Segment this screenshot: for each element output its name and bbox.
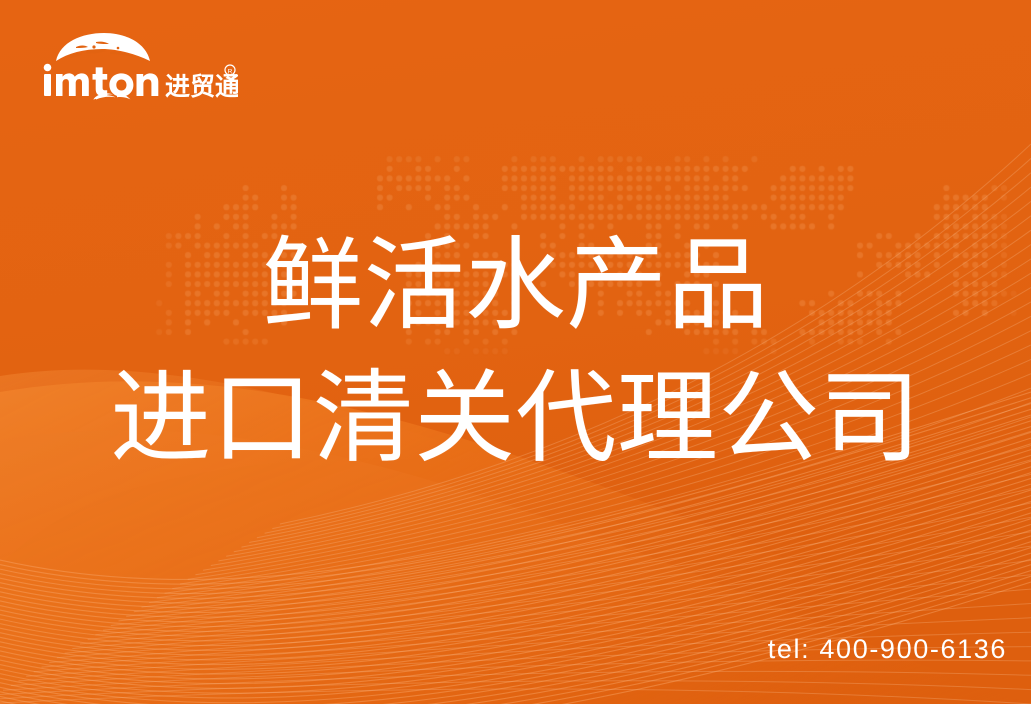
headline-line-1: 鲜活水产品 — [0, 228, 1031, 345]
headline-line-2: 进口清关代理公司 — [0, 361, 1031, 478]
company-logo[interactable]: 进贸通 R — [38, 31, 238, 103]
svg-text:R: R — [228, 68, 233, 75]
headline-block: 鲜活水产品 进口清关代理公司 — [0, 228, 1031, 478]
trademark-icon: R — [225, 65, 235, 75]
promotional-banner: 进贸通 R 鲜活水产品 进口清关代理公司 tel: 400-900-6136 — [0, 0, 1031, 704]
logo-chinese-name: 进贸通 — [165, 72, 238, 101]
logo-wordmark — [44, 64, 159, 97]
contact-phone[interactable]: tel: 400-900-6136 — [768, 634, 1007, 665]
globe-dome-icon — [56, 33, 150, 61]
